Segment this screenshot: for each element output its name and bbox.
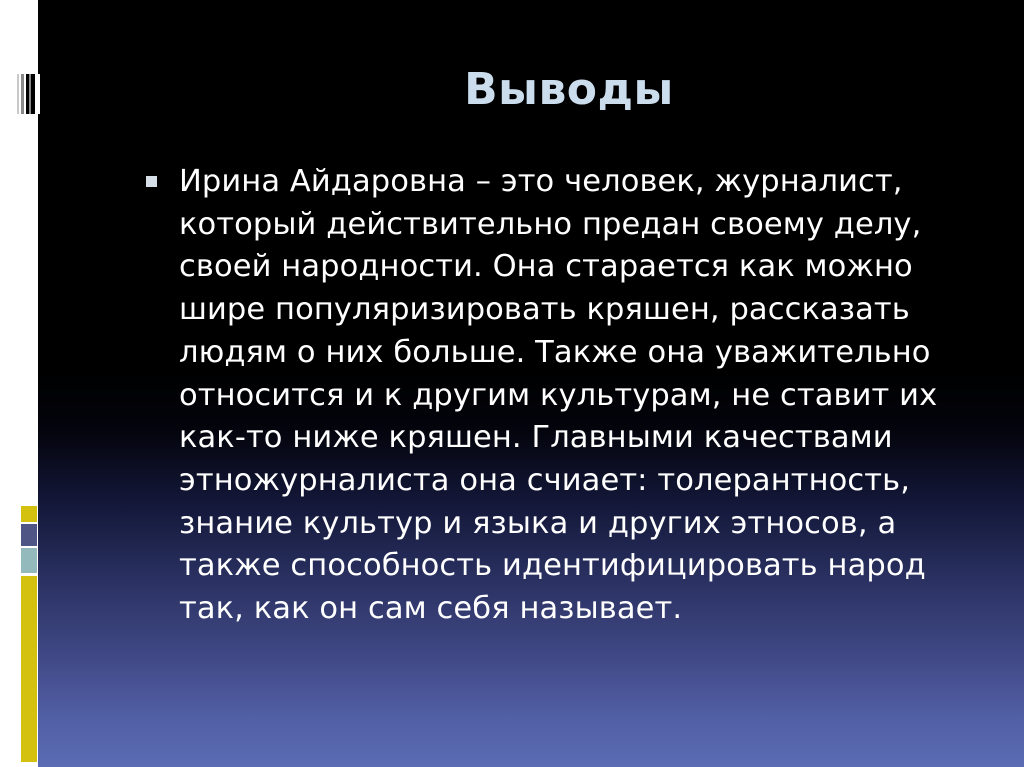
presentation-slide: Выводы Ирина Айдаровна – это человек, жу… xyxy=(0,0,1024,767)
bullet-line: Ирина Айдаровна – это человек, журналист… xyxy=(179,161,986,204)
bullet-line: этножурналиста она счиает: толерантность… xyxy=(179,460,986,503)
bullet-line: как-то ниже кряшен. Главными качествами xyxy=(179,417,986,460)
navy-chip xyxy=(21,524,37,546)
bullet-line: относится и к другим культурам, не стави… xyxy=(179,375,986,418)
bullet-line: шире популяризировать кряшен, рассказать xyxy=(179,289,986,332)
bullet-line: так, как он сам себя называет. xyxy=(179,588,986,631)
striped-bar-decoration-icon xyxy=(15,74,40,114)
gold-chip-top xyxy=(21,506,37,522)
slide-title: Выводы xyxy=(76,68,1024,112)
square-bullet-icon xyxy=(146,176,157,187)
bullet-text-content: Ирина Айдаровна – это человек, журналист… xyxy=(179,161,986,631)
bullet-line: людям о них больше. Также она уважительн… xyxy=(179,332,986,375)
teal-chip xyxy=(21,548,37,573)
bullet-line: также способность идентифицировать народ xyxy=(179,545,986,588)
bullet-line: своей народности. Она старается как можн… xyxy=(179,246,986,289)
bullet-line: знание культур и языка и других этносов,… xyxy=(179,503,986,546)
slide-canvas: Выводы Ирина Айдаровна – это человек, жу… xyxy=(38,0,1024,767)
bullet-list: Ирина Айдаровна – это человек, журналист… xyxy=(146,161,986,631)
bullet-line: который действительно предан своему делу… xyxy=(179,204,986,247)
gold-bar xyxy=(21,576,37,762)
